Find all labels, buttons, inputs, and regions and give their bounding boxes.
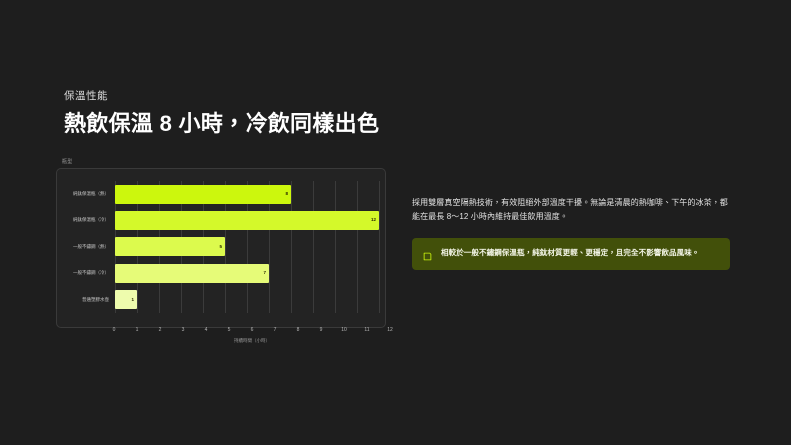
chart-bar-row: 8 — [115, 185, 379, 204]
chart-plot-area: 812571 — [115, 181, 379, 313]
chart-x-tick-label: 6 — [251, 328, 254, 333]
chart-bar[interactable]: 12 — [115, 211, 379, 230]
chart-bar-value-label: 7 — [263, 271, 269, 276]
chart-x-tick-label: 0 — [113, 328, 116, 333]
chart-bar[interactable]: 8 — [115, 185, 291, 204]
chart-bar[interactable]: 7 — [115, 264, 269, 283]
chart-y-label: 一般不鏽鋼（熱） — [57, 237, 113, 256]
gridline — [379, 181, 380, 313]
chart-x-tick-label: 5 — [228, 328, 231, 333]
chart-y-axis-labels: 純鈦保溫瓶（熱）純鈦保溫瓶（冷）一般不鏽鋼（熱）一般不鏽鋼（冷）普通塑膠水壺 — [57, 181, 113, 313]
chart-x-axis-title: 持續時間（小時） — [114, 339, 390, 344]
page-title: 熱飲保溫 8 小時，冷飲同樣出色 — [64, 110, 724, 138]
chart-bar-rows: 812571 — [115, 181, 379, 313]
chart-x-tick-label: 7 — [274, 328, 277, 333]
chart-bar-value-label: 8 — [285, 192, 291, 197]
callout-text: 相較於一般不鏽鋼保溫瓶，純鈦材質更輕、更穩定，且完全不影響飲品風味。 — [441, 247, 699, 260]
right-content-column: 採用雙層真空隔熱技術，有效阻絕外部溫度干擾。無論是清晨的熱咖啡、下午的冰茶，都能… — [412, 196, 730, 270]
chart-x-tick-label: 2 — [159, 328, 162, 333]
chart-legend-title: 瓶型 — [62, 158, 72, 165]
chart-x-tick-label: 11 — [364, 328, 369, 333]
chart-y-label: 普通塑膠水壺 — [57, 290, 113, 309]
chart-x-tick-label: 4 — [205, 328, 208, 333]
chart-x-tick-label: 3 — [182, 328, 185, 333]
chart-bar-value-label: 5 — [219, 245, 225, 250]
chart-x-tick-label: 8 — [297, 328, 300, 333]
chart-x-tick-label: 9 — [320, 328, 323, 333]
chart-bar[interactable]: 1 — [115, 290, 137, 309]
chart-bar-value-label: 1 — [131, 298, 137, 303]
chart-y-label: 純鈦保溫瓶（冷） — [57, 211, 113, 230]
chart-x-tick-label: 1 — [136, 328, 139, 333]
chart-bar-row: 12 — [115, 211, 379, 230]
note-icon — [423, 248, 432, 257]
callout-box: 相較於一般不鏽鋼保溫瓶，純鈦材質更輕、更穩定，且完全不影響飲品風味。 — [412, 238, 730, 270]
slide-header: 保溫性能 熱飲保溫 8 小時，冷飲同樣出色 — [64, 90, 724, 137]
body-paragraph: 採用雙層真空隔熱技術，有效阻絕外部溫度干擾。無論是清晨的熱咖啡、下午的冰茶，都能… — [412, 196, 730, 224]
chart-bar-row: 1 — [115, 290, 379, 309]
chart-x-tick-label: 12 — [387, 328, 393, 333]
chart-bar-row: 7 — [115, 264, 379, 283]
slide-root: 保溫性能 熱飲保溫 8 小時，冷飲同樣出色 瓶型 純鈦保溫瓶（熱）純鈦保溫瓶（冷… — [0, 0, 791, 445]
eyebrow-label: 保溫性能 — [64, 90, 724, 103]
chart-bar[interactable]: 5 — [115, 237, 225, 256]
chart-bar-row: 5 — [115, 237, 379, 256]
chart-bar-value-label: 12 — [371, 218, 379, 223]
chart-x-tick-label: 10 — [341, 328, 347, 333]
chart-y-label: 純鈦保溫瓶（熱） — [57, 185, 113, 204]
chart-y-label: 一般不鏽鋼（冷） — [57, 264, 113, 283]
chart-plot-frame: 純鈦保溫瓶（熱）純鈦保溫瓶（冷）一般不鏽鋼（熱）一般不鏽鋼（冷）普通塑膠水壺 8… — [56, 168, 386, 328]
retention-bar-chart: 瓶型 純鈦保溫瓶（熱）純鈦保溫瓶（冷）一般不鏽鋼（熱）一般不鏽鋼（冷）普通塑膠水… — [56, 158, 396, 348]
